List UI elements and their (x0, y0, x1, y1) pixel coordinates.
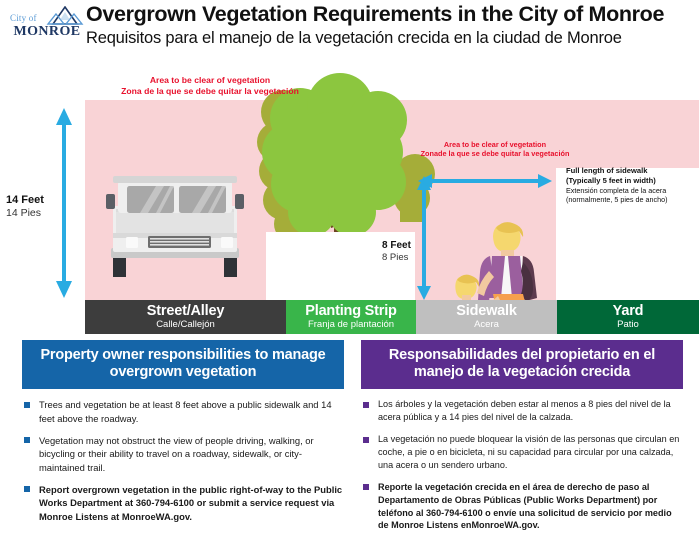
bullet-square-icon (24, 402, 30, 408)
zone-street-alley-es: Calle/Callejón (156, 319, 215, 331)
panel-english: Property owner responsibilities to manag… (22, 340, 344, 532)
bullet-square-icon (24, 486, 30, 492)
callout-sidewalk-en: Area to be clear of vegetation (400, 140, 590, 149)
delivery-truck-icon (106, 176, 244, 277)
panel-spanish-bullets: Los árboles y la vegetación deben estar … (361, 398, 683, 532)
zone-yard-en: Yard (613, 304, 644, 319)
bullet-square-icon (363, 402, 369, 408)
callout-street-es: Zona de la que se debe quitar la vegetac… (90, 86, 330, 97)
panel-spanish: Responsabilidades del propietario en el … (361, 340, 683, 539)
sidewalk-width-note: Full length of sidewalk (Typically 5 fee… (566, 166, 692, 204)
logo-city-name: MONROE (8, 24, 86, 40)
list-item: Vegetation may not obstruct the view of … (22, 434, 344, 474)
measure-arrow-14ft (56, 108, 72, 298)
list-item: La vegetación no puede bloquear la visió… (361, 433, 683, 472)
zone-planting-strip-es: Franja de plantación (308, 319, 394, 331)
callout-street-clear-zone: Area to be clear of vegetation Zona de l… (90, 75, 330, 96)
city-logo: City of MONROE (8, 4, 86, 48)
zone-sidewalk: Sidewalk Acera (416, 300, 557, 334)
responsibility-panels: Property owner responsibilities to manag… (0, 340, 699, 539)
list-item-text: Report overgrown vegetation in the publi… (39, 484, 342, 522)
measure-14ft-en: 14 Feet (6, 194, 54, 206)
list-item-text: Reporte la vegetación crecida en el área… (378, 482, 672, 531)
measure-14ft-es: 14 Pies (6, 207, 54, 219)
zone-sidewalk-en: Sidewalk (456, 304, 516, 319)
callout-sidewalk-clear-zone: Area to be clear of vegetation Zonade la… (400, 140, 590, 158)
page-header: City of MONROE Overgrown Vegetation Requ… (0, 0, 699, 66)
zone-street-alley: Street/Alley Calle/Callejón (85, 300, 286, 334)
list-item-text: Los árboles y la vegetación deben estar … (378, 399, 671, 422)
measure-arrow-8ft (417, 176, 431, 300)
panel-english-bullets: Trees and vegetation be at least 8 feet … (22, 398, 344, 523)
list-item-text: Trees and vegetation be at least 8 feet … (39, 399, 332, 423)
list-item-text: La vegetación no puede bloquear la visió… (378, 434, 679, 470)
title-block: Overgrown Vegetation Requirements in the… (86, 2, 694, 48)
list-item: Reporte la vegetación crecida en el área… (361, 481, 683, 533)
page-title-es: Requisitos para el manejo de la vegetaci… (86, 29, 694, 48)
zone-planting-strip-en: Planting Strip (305, 304, 396, 319)
sidewalk-note-es-2: (normalmente, 5 pies de ancho) (566, 195, 692, 204)
zone-street-alley-en: Street/Alley (147, 304, 224, 319)
callout-sidewalk-es: Zonade la que se debe quitar la vegetaci… (400, 149, 590, 158)
bullet-square-icon (363, 484, 369, 490)
measure-8ft-es: 8 Pies (382, 252, 418, 263)
sidewalk-note-en-1: Full length of sidewalk (566, 166, 692, 176)
zone-sidewalk-es: Acera (474, 319, 499, 331)
list-item: Report overgrown vegetation in the publi… (22, 483, 344, 523)
street-cross-section-diagram: Area to be clear of vegetation Zona de l… (0, 66, 699, 334)
list-item: Trees and vegetation be at least 8 feet … (22, 398, 344, 425)
zone-yard: Yard Patio (557, 300, 699, 334)
measure-8ft-en: 8 Feet (382, 240, 418, 251)
measure-arrow-sidewalk-width (418, 174, 552, 188)
sidewalk-note-es-1: Extensión completa de la acera (566, 186, 692, 195)
logo-city-text: City of (10, 13, 37, 23)
bullet-square-icon (363, 437, 369, 443)
panel-spanish-heading: Responsabilidades del propietario en el … (361, 340, 683, 389)
zone-yard-es: Patio (617, 319, 639, 331)
list-item: Los árboles y la vegetación deben estar … (361, 398, 683, 424)
sidewalk-note-en-2: (Typically 5 feet in width) (566, 176, 692, 186)
bullet-square-icon (24, 437, 30, 443)
list-item-text: Vegetation may not obstruct the view of … (39, 435, 314, 473)
page-title-en: Overgrown Vegetation Requirements in the… (86, 2, 694, 26)
measure-label-8ft: 8 Feet 8 Pies (382, 240, 418, 263)
zone-label-strip: Street/Alley Calle/Callejón Planting Str… (85, 300, 699, 334)
zone-planting-strip: Planting Strip Franja de plantación (286, 300, 416, 334)
callout-street-en: Area to be clear of vegetation (90, 75, 330, 86)
panel-english-heading: Property owner responsibilities to manag… (22, 340, 344, 389)
measure-label-14ft: 14 Feet 14 Pies (6, 194, 54, 219)
infographic-page: City of MONROE Overgrown Vegetation Requ… (0, 0, 699, 539)
